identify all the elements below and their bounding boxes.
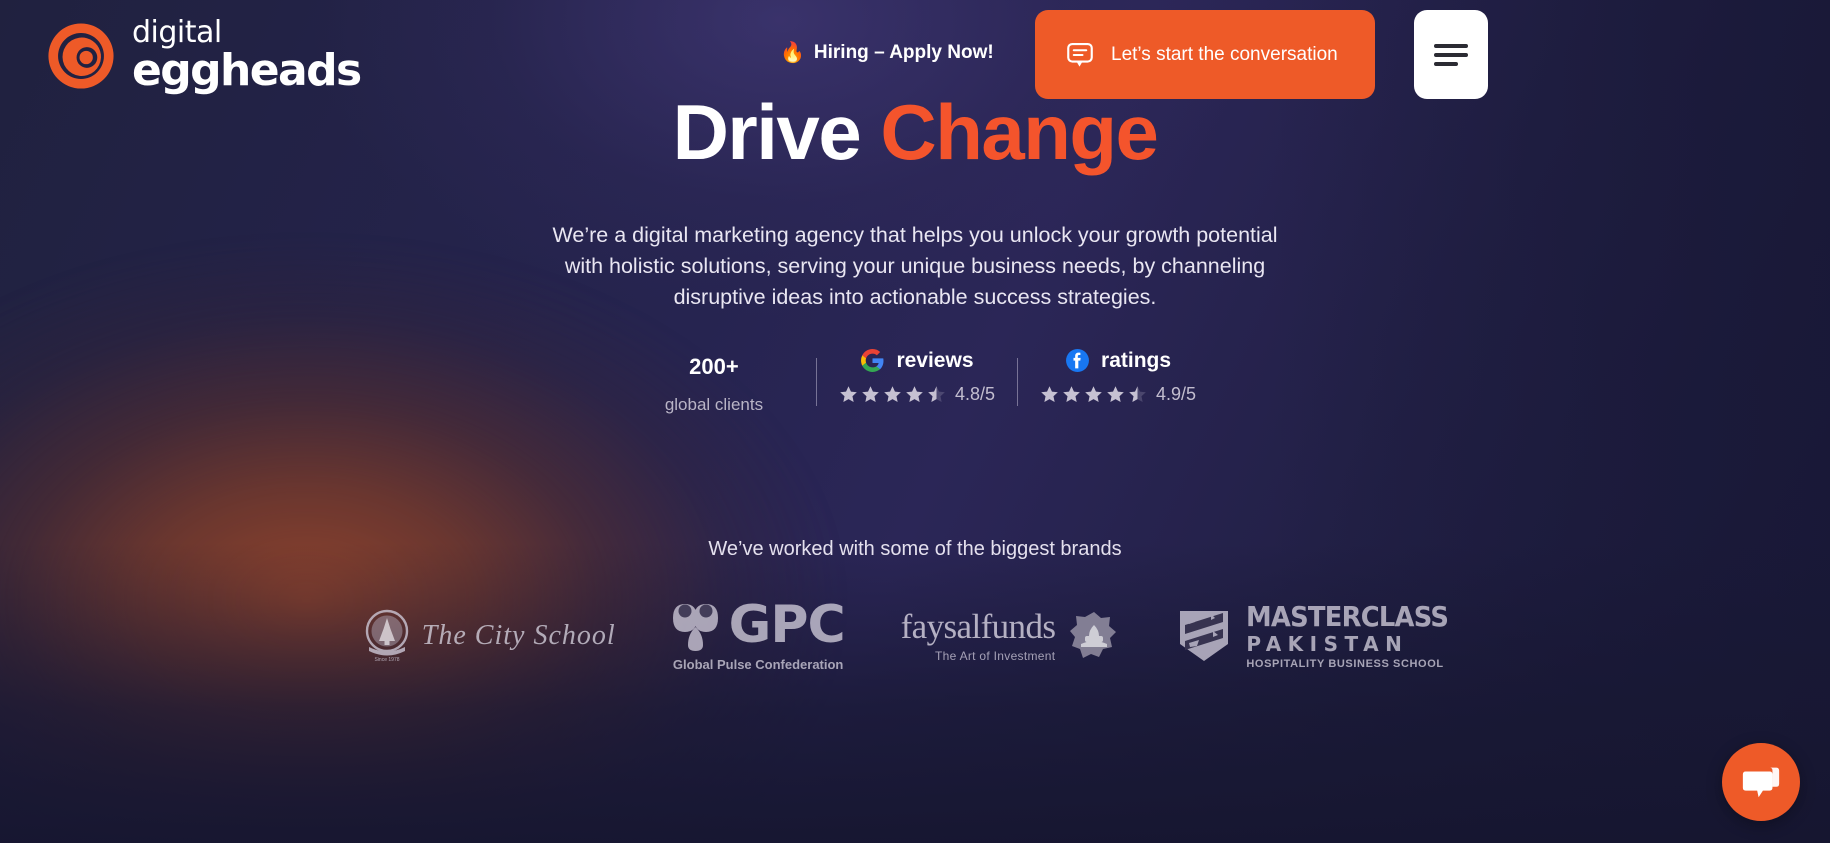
brand-logo-the-city-school: Since 1978 The City School [364, 609, 616, 663]
hiring-apply-now-link[interactable]: 🔥 Hiring – Apply Now! [780, 42, 994, 64]
city-school-crest-icon: Since 1978 [364, 609, 410, 663]
facebook-star-rating [1040, 385, 1147, 404]
clients-count: 200+ [689, 354, 739, 380]
clients-label: global clients [665, 395, 763, 415]
start-conversation-button[interactable]: Let’s start the conversation [1035, 10, 1375, 99]
brand-logo-gpc: GPC Global Pulse Confederation [672, 600, 845, 672]
stats-divider-2 [1017, 358, 1018, 406]
hiring-label: Hiring – Apply Now! [814, 42, 994, 64]
google-score: 4.8/5 [955, 384, 995, 405]
fire-icon: 🔥 [780, 43, 805, 63]
logo-text-top: digital [132, 18, 361, 48]
stat-global-clients: 200+ global clients [634, 348, 794, 415]
brand-logo-faysalfunds: faysalfunds The Art of Investment [901, 609, 1120, 663]
google-reviews-label: reviews [896, 349, 973, 373]
google-g-icon [860, 348, 885, 373]
facebook-ratings-label: ratings [1101, 349, 1171, 373]
hamburger-menu-icon [1434, 44, 1468, 66]
stats-divider-1 [816, 358, 817, 406]
brand-logo-masterclass-pakistan: MASTERCLASS PAKISTAN HOSPITALITY BUSINES… [1175, 603, 1466, 670]
city-school-since-text: Since 1978 [374, 657, 399, 663]
brand-logos-row: Since 1978 The City School GPC Global Pu… [0, 600, 1830, 672]
facebook-score: 4.9/5 [1156, 384, 1196, 405]
facebook-f-icon [1065, 348, 1090, 373]
hero-subheading: We’re a digital marketing agency that he… [545, 220, 1285, 313]
chat-widget-button[interactable] [1722, 743, 1800, 821]
chat-bubbles-icon [1740, 761, 1782, 803]
masterclass-line-2: PAKISTAN [1246, 633, 1466, 655]
chat-bubble-icon [1065, 40, 1095, 70]
faysalfunds-name: faysalfunds [901, 609, 1056, 644]
gpc-tagline: Global Pulse Confederation [673, 657, 843, 672]
stat-facebook-ratings[interactable]: ratings 4.9/5 [1040, 348, 1196, 405]
site-header: digital eggheads 🔥 Hiring – Apply Now! L… [0, 0, 1830, 110]
masterclass-banner-icon [1175, 608, 1233, 664]
stats-row: 200+ global clients reviews [0, 348, 1830, 415]
background-bottom-vignette [0, 543, 1830, 843]
cta-button-label: Let’s start the conversation [1111, 44, 1338, 66]
masterclass-line-1: MASTERCLASS [1246, 603, 1448, 631]
gpc-people-icon [672, 600, 722, 652]
brands-section-title: We’ve worked with some of the biggest br… [0, 538, 1830, 561]
hamburger-menu-button[interactable] [1414, 10, 1488, 99]
faysalfunds-tagline: The Art of Investment [935, 649, 1055, 663]
faysal-dome-icon [1069, 611, 1119, 661]
google-star-rating [839, 385, 946, 404]
site-logo[interactable]: digital eggheads [44, 18, 361, 93]
gpc-letters: GPC [729, 601, 845, 650]
city-school-name: The City School [422, 620, 616, 652]
digital-eggheads-spiral-logo-icon [44, 19, 118, 93]
logo-text-bottom: eggheads [132, 49, 361, 93]
masterclass-line-3: HOSPITALITY BUSINESS SCHOOL [1246, 658, 1466, 670]
stat-google-reviews[interactable]: reviews 4.8/5 [839, 348, 995, 405]
